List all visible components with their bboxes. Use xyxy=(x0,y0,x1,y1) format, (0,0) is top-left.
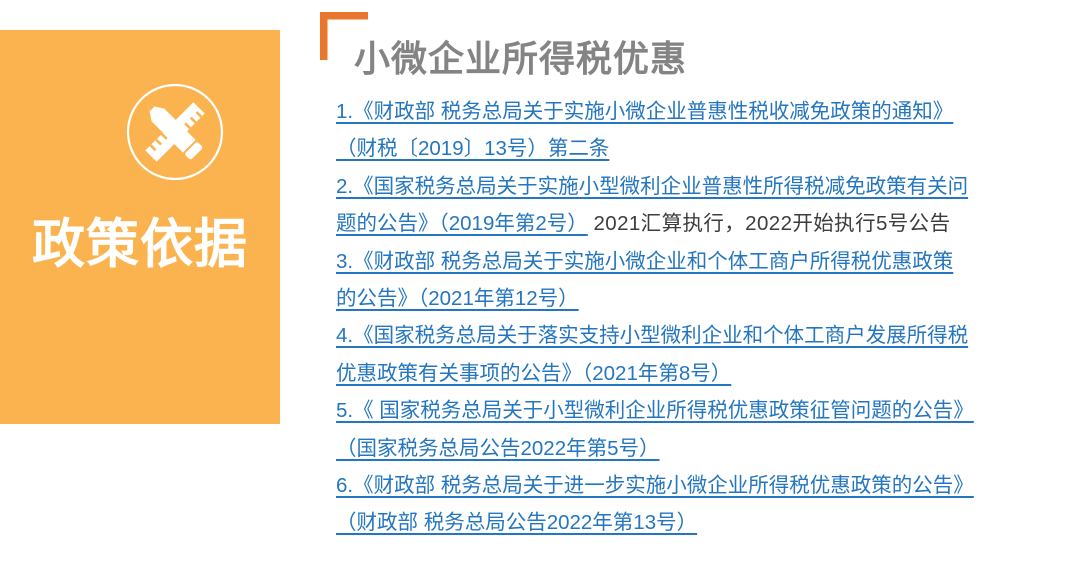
reference-note: 2021汇算执行，2022开始执行5号公告 xyxy=(593,212,950,235)
reference-link[interactable]: （国家税务总局公告2022年第5号） xyxy=(336,437,660,460)
reference-link[interactable]: 4.《国家税务总局关于落实支持小型微利企业和个体工商户发展所得税 xyxy=(336,324,968,347)
list-item[interactable]: （财税〔2019〕13号）第二条 xyxy=(336,130,1066,167)
reference-link[interactable]: 优惠政策有关事项的公告》（2021年第8号） xyxy=(336,362,731,385)
list-item[interactable]: 2.《国家税务总局关于实施小型微利企业普惠性所得税减免政策有关问 xyxy=(336,168,1066,205)
list-item[interactable]: 4.《国家税务总局关于落实支持小型微利企业和个体工商户发展所得税 xyxy=(336,317,1066,354)
list-item[interactable]: 5.《 国家税务总局关于小型微利企业所得税优惠政策征管问题的公告》 xyxy=(336,392,1066,429)
list-item[interactable]: （财政部 税务总局公告2022年第13号） xyxy=(336,504,1066,541)
slide-canvas: 政策依据 小微企业所得税优惠 1.《财政部 税务总局关于实施小微企业普惠性税收减… xyxy=(0,0,1080,584)
reference-link[interactable]: （财政部 税务总局公告2022年第13号） xyxy=(336,511,697,534)
panel-title: 政策依据 xyxy=(0,215,280,275)
list-item[interactable]: 1.《财政部 税务总局关于实施小微企业普惠性税收减免政策的通知》 xyxy=(336,93,1066,130)
reference-list: 1.《财政部 税务总局关于实施小微企业普惠性税收减免政策的通知》 （财税〔201… xyxy=(336,93,1066,542)
content-area: 小微企业所得税优惠 1.《财政部 税务总局关于实施小微企业普惠性税收减免政策的通… xyxy=(318,0,1070,584)
reference-link[interactable]: 3.《财政部 税务总局关于实施小微企业和个体工商户所得税优惠政策 xyxy=(336,250,953,273)
list-item[interactable]: （国家税务总局公告2022年第5号） xyxy=(336,430,1066,467)
list-item[interactable]: 6.《财政部 税务总局关于进一步实施小微企业所得税优惠政策的公告》 xyxy=(336,467,1066,504)
reference-link[interactable]: 的公告》（2021年第12号） xyxy=(336,287,579,310)
list-item[interactable]: 3.《财政部 税务总局关于实施小微企业和个体工商户所得税优惠政策 xyxy=(336,243,1066,280)
list-item[interactable]: 题的公告》（2019年第2号） 2021汇算执行，2022开始执行5号公告 xyxy=(336,205,1066,242)
list-item[interactable]: 的公告》（2021年第12号） xyxy=(336,280,1066,317)
page-title: 小微企业所得税优惠 xyxy=(354,37,687,81)
reference-link[interactable]: 1.《财政部 税务总局关于实施小微企业普惠性税收减免政策的通知》 xyxy=(336,100,953,123)
left-orange-panel: 政策依据 xyxy=(0,30,280,424)
reference-link[interactable]: 5.《 国家税务总局关于小型微利企业所得税优惠政策征管问题的公告》 xyxy=(336,399,974,422)
reference-link[interactable]: 6.《财政部 税务总局关于进一步实施小微企业所得税优惠政策的公告》 xyxy=(336,474,974,497)
pencil-ruler-circle-icon xyxy=(125,82,225,182)
reference-link[interactable]: 题的公告》（2019年第2号） xyxy=(336,212,588,235)
list-item[interactable]: 优惠政策有关事项的公告》（2021年第8号） xyxy=(336,355,1066,392)
reference-link[interactable]: 2.《国家税务总局关于实施小型微利企业普惠性所得税减免政策有关问 xyxy=(336,175,968,198)
reference-link[interactable]: （财税〔2019〕13号）第二条 xyxy=(336,137,609,160)
